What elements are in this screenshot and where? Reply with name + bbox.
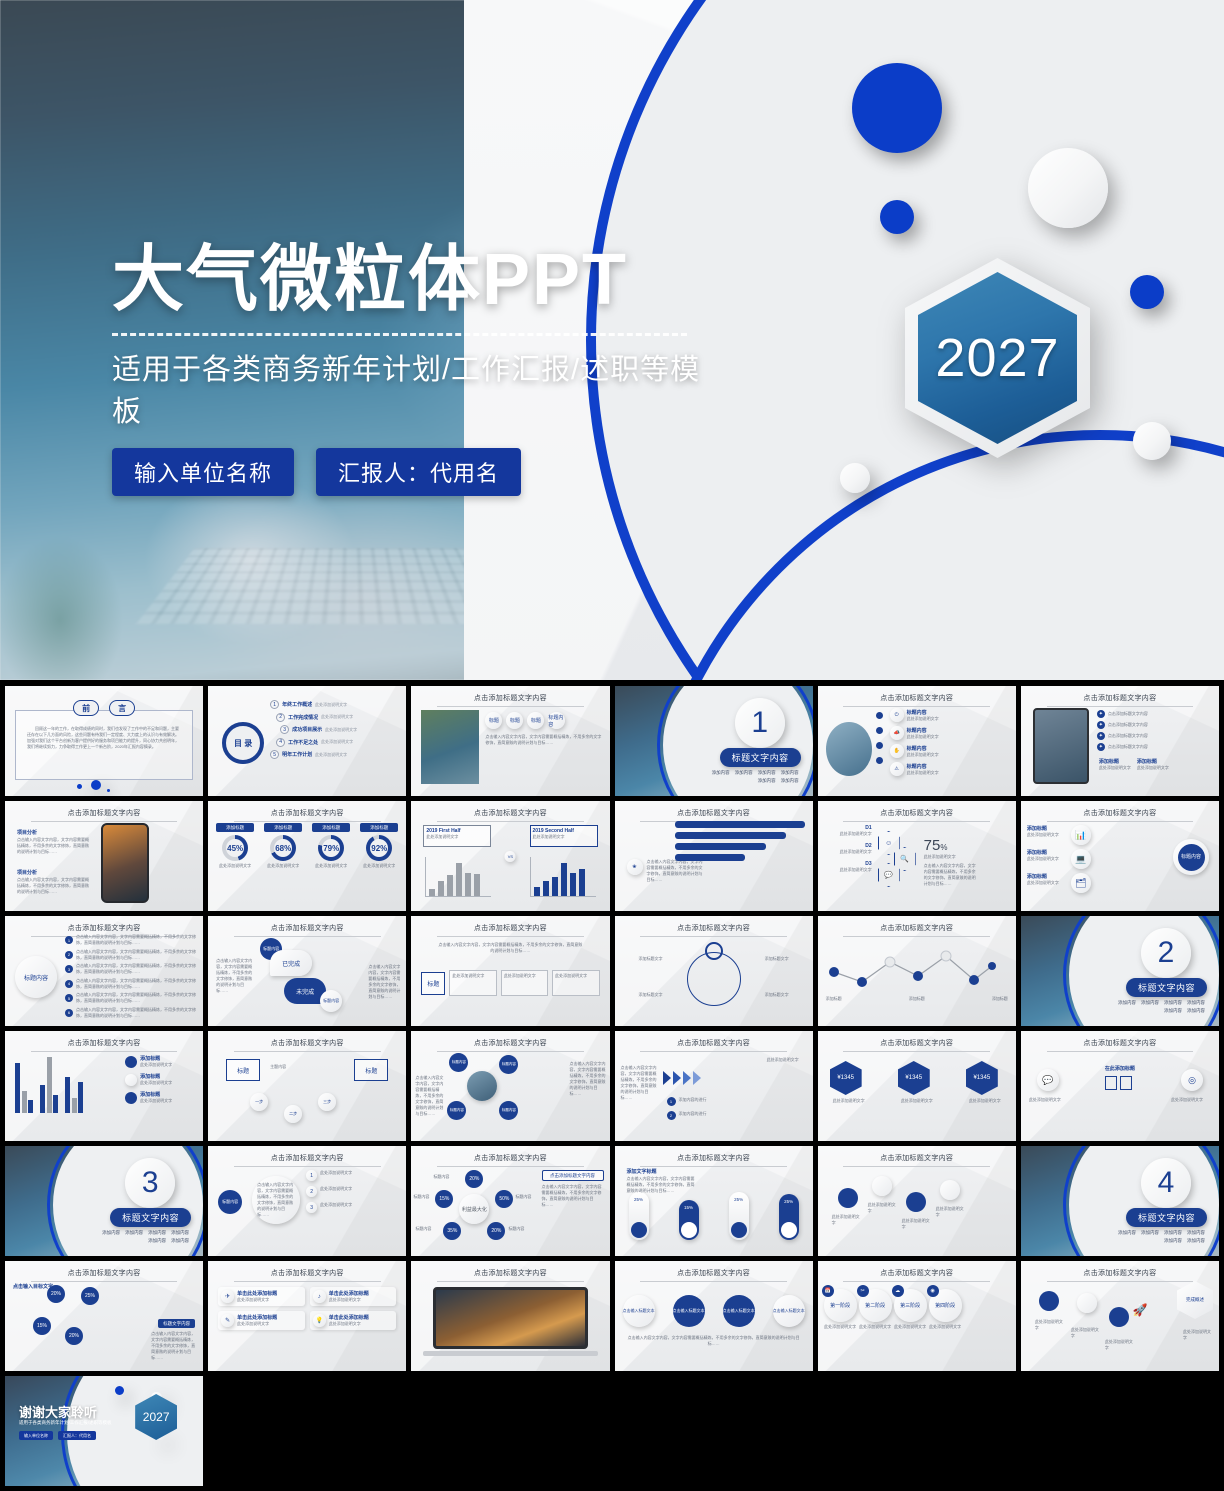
bullet: 添加内容	[171, 1238, 189, 1244]
item-text: 点击输入内容文字内容，文字内容需要概括精炼，不用多余的文字修饰，直简意赅的说明计…	[76, 992, 199, 1004]
slide-heading: 点击添加标题文字内容	[411, 693, 609, 707]
thanks-subtitle: 适用于各类商务新年计划/工作汇报/述职等模板	[19, 1420, 112, 1426]
center-label: 在此添加标题	[1105, 1065, 1135, 1072]
chevron-icon	[693, 1071, 701, 1085]
thumb-linechart[interactable]: 点击添加标题文字内容 添加标题 添加标题 添加标题	[818, 916, 1016, 1026]
decor-circle-white-small	[840, 463, 870, 493]
cover-pill-row: 输入单位名称 汇报人：代用名	[112, 448, 712, 496]
item-text: 点击添加标题文字内容	[1108, 733, 1148, 739]
box[interactable]: 此处添加说明文字	[449, 970, 496, 996]
item-title: 工作不足之处	[288, 739, 318, 746]
thumb-rocket[interactable]: 点击添加标题文字内容 🚀 完成概述 此处添加说明文字 此处添加说明文字 此处添加…	[1021, 1261, 1219, 1371]
bar	[15, 1063, 20, 1113]
hub-label-bottom-right: 标题内容	[508, 1226, 524, 1232]
thumb-hex-percent[interactable]: 点击添加标题文字内容 D1 此处添加说明文字 D2 此处添加说明文字 D3 此处…	[818, 801, 1016, 911]
stage-item[interactable]: 第三阶段 ☁ 此处添加说明文字	[894, 1289, 927, 1330]
decor-circle-blue-large	[852, 63, 942, 153]
list-item[interactable]: 1点击输入内容文字内容，文字内容需要概括精炼，不用多余的文字修饰，直简意赅的说明…	[65, 934, 199, 946]
percent-node-4[interactable]: 20%	[65, 1327, 83, 1345]
box[interactable]: 此处添加说明文字	[552, 970, 599, 996]
stage-item[interactable]: 第四阶段 ◉ 此处添加说明文字	[929, 1289, 962, 1330]
compare-left-text: 此处添加说明文字	[1029, 1097, 1069, 1103]
flow-step-3[interactable]: 三步	[318, 1093, 336, 1111]
card-title: 单击此处添加标题	[329, 1314, 369, 1321]
thumb-section-3[interactable]: 3 标题文字内容 添加内容 添加内容 添加内容 添加内容 添加内容 添加内容	[5, 1146, 203, 1256]
arrow-left-text: 点击输入内容文字内容，文字内容需要概括精炼，不用多余的文字修饰，直简意赅的说明计…	[621, 1065, 659, 1101]
stage-icon: ◉	[927, 1285, 939, 1297]
thumb-clock[interactable]: 点击添加标题文字内容 添加标题文字 添加标题文字 添加标题文字 添加标题文字	[615, 916, 813, 1026]
preface-char-1: 前	[73, 700, 99, 716]
presenter-pill[interactable]: 汇报人：代用名	[58, 1431, 96, 1440]
thumb-tablet[interactable]: 点击添加标题文字内容 ✦ 点击添加标题文字内容 ✦ 点击添加标题文字内容 ✦ 点…	[1021, 686, 1219, 796]
bullet-icon: ✦	[1097, 721, 1105, 729]
donut-chip: 添加标题	[312, 823, 350, 832]
decor-circle-white-large	[1028, 148, 1108, 228]
pill-item[interactable]: 标题	[485, 712, 502, 729]
node-1[interactable]: 标题内容	[449, 1053, 468, 1072]
list-item[interactable]: 3此处添加说明文字	[306, 1202, 402, 1213]
section-banner: 标题文字内容	[110, 1208, 191, 1227]
bullet: 添加内容	[1164, 1000, 1182, 1006]
preface-heading: 前 言	[73, 700, 135, 716]
bar	[570, 873, 576, 896]
hub-center: 利益最大化	[459, 1194, 489, 1224]
step-text: 此处添加说明文字	[828, 831, 872, 837]
hex-icon-chat: 💬	[878, 863, 900, 887]
bar	[429, 889, 435, 896]
page-title: 大气微粒体PPT	[112, 243, 712, 319]
list-item[interactable]: 5点击输入内容文字内容，文字内容需要概括精炼，不用多余的文字修饰，直简意赅的说明…	[65, 992, 199, 1004]
hub-node-right[interactable]: 50%	[495, 1190, 513, 1208]
preface-body: 回顾这一年的工作，在取得成绩的同时，我们也发现了工作中的不足和问题，主要还存在以…	[27, 726, 181, 750]
slide-heading: 点击添加标题文字内容	[615, 808, 813, 822]
capsule[interactable]: 点击输入标题文本	[773, 1295, 805, 1327]
bullet-icon: ✦	[1097, 732, 1105, 740]
thumb-bubbles[interactable]: 点击添加标题文字内容 点击输入内容文字内容，文字内容需要概括精炼，不用多余的文字…	[208, 916, 406, 1026]
thumb-thanks[interactable]: 谢谢大家聆听 适用于各类商务新年计划/工作汇报/述职等模板 输入单位名称 汇报人…	[5, 1376, 203, 1486]
bullet-icon: ✦	[1097, 710, 1105, 718]
bar	[65, 1077, 70, 1113]
toggle-item[interactable]: 25%	[779, 1194, 799, 1240]
toggle-item[interactable]: 25%	[629, 1192, 649, 1240]
legend-text: 此处添加说明文字	[140, 1080, 172, 1086]
list-item[interactable]: 2点击输入内容文字内容，文字内容需要概括精炼，不用多余的文字修饰，直简意赅的说明…	[65, 949, 199, 961]
list-item[interactable]: 5 明年工作计划 此处添加说明文字	[270, 750, 400, 759]
contents-list: 1 年终工作概述 此处添加说明文字 2 工作完成情况 此处添加说明文字 3 成功…	[270, 700, 400, 759]
thumb-boxes[interactable]: 点击添加标题文字内容 点击输入内容文字内容，文字内容需要概括精炼，不用多余的文字…	[411, 916, 609, 1026]
donut-ring: 79%	[318, 835, 344, 861]
contacts-icon: 🗂	[1071, 873, 1091, 893]
bullet: 添加内容	[1141, 1230, 1159, 1236]
hbar-group	[675, 821, 805, 861]
bullet: 添加内容	[125, 1230, 143, 1236]
stage-text: 此处添加说明文字	[929, 1324, 962, 1330]
thumb-bars-compare[interactable]: 点击添加标题文字内容 2019 First Half 此处添加说明文字 2019…	[411, 801, 609, 911]
capsule[interactable]: 点击输入标题文本	[673, 1295, 705, 1327]
stage-icon: ✂	[857, 1285, 869, 1297]
hub-node-top[interactable]: 20%	[465, 1170, 483, 1188]
list-item[interactable]: 📣 标题内容 此处添加说明文字	[890, 726, 1012, 740]
clock-label-tr: 添加标题文字	[765, 956, 803, 962]
step-text: 此处添加说明文字	[320, 1186, 402, 1197]
tablet-device	[1033, 708, 1089, 784]
donut-ring: 45%	[222, 835, 248, 861]
list-item[interactable]: ✦ 点击添加标题文字内容	[1097, 721, 1215, 729]
rail-dot	[876, 727, 883, 734]
slide-heading: 点击添加标题文字内容	[5, 808, 203, 822]
slide-heading: 点击添加标题文字内容	[411, 923, 609, 937]
node-3[interactable]: 标题内容	[447, 1101, 466, 1120]
slide-heading: 点击添加标题文字内容	[818, 693, 1016, 707]
send-icon: ✈	[221, 1290, 234, 1303]
thumb-phone[interactable]: 点击添加标题文字内容 项目分析 点击输入内容文字内容，文字内容需要概括精炼，不用…	[5, 801, 203, 911]
flow-step-2[interactable]: 二步	[284, 1105, 302, 1123]
organization-pill[interactable]: 输入单位名称	[112, 448, 294, 496]
left-caption-box: 2019 First Half 此处添加说明文字	[423, 825, 491, 847]
thumb-cards4[interactable]: 点击添加标题文字内容 ✈ 单击此处添加标题此处添加说明文字 ♪ 单击此处添加标题…	[208, 1261, 406, 1371]
bar-group	[15, 1063, 33, 1113]
step-rows: 1此处添加说明文字 2此处添加说明文字 3此处添加说明文字	[306, 1170, 402, 1213]
thumb-preface[interactable]: 前 言 回顾这一年的工作，在取得成绩的同时，我们也发现了工作中的不足和问题，主要…	[5, 686, 203, 796]
box-text: 此处添加说明文字	[555, 973, 596, 979]
toggle-value: 25%	[779, 1199, 799, 1204]
toggle-knob	[781, 1222, 797, 1238]
thumb-dots-flow[interactable]: 点击添加标题文字内容 此处添加说明文字 此处添加说明文字 此处添加说明文字 此处…	[818, 1146, 1016, 1256]
clock-ring	[687, 952, 741, 1006]
step-number: 2	[306, 1186, 317, 1197]
thumb-circle-list[interactable]: 点击添加标题文字内容 标题内容 1点击输入内容文字内容，文字内容需要概括精炼，不…	[5, 916, 203, 1026]
bubble-left-text: 点击输入内容文字内容，文字内容需要概括精炼，不用多余的文字修饰，直简意赅的说明计…	[216, 958, 252, 994]
donut-row: 添加标题 45% 此处添加说明文字 添加标题 68% 此处添加说明文字 添加标题…	[216, 823, 398, 869]
slide-heading: 点击添加标题文字内容	[818, 808, 1016, 822]
slide-heading: 点击添加标题文字内容	[615, 923, 813, 937]
thumb-hex-percents[interactable]: 点击添加标题文字内容 20% 25% 15% 20% 点击输入目标文字 标题文字…	[5, 1261, 203, 1371]
bar	[579, 869, 585, 896]
flow-note-2: 此处添加说明文字	[868, 1202, 898, 1214]
toggle-knob	[631, 1222, 647, 1238]
thumb-laptop[interactable]: 点击添加标题文字内容	[411, 1261, 609, 1371]
vs-badge: VS	[505, 851, 516, 862]
bubble-tag-2: 标题内容	[320, 990, 342, 1012]
label: 添加标题	[1027, 849, 1067, 856]
arrow-top-note: 此处添加说明文字	[767, 1057, 805, 1063]
node-4[interactable]: 标题内容	[499, 1101, 518, 1120]
caption-text: 此处添加说明文字	[1099, 765, 1131, 771]
pill-row: 标题 标题 标题 标题内容	[485, 712, 565, 729]
bar	[40, 1085, 45, 1113]
step-number: 3	[306, 1202, 317, 1213]
thumb-arrows[interactable]: 点击添加标题文字内容 点击输入内容文字内容，文字内容需要概括精炼，不用多余的文字…	[615, 1031, 813, 1141]
presenter-pill[interactable]: 汇报人：代用名	[316, 448, 521, 496]
card-title: 单击此处添加标题	[237, 1314, 277, 1321]
item-sub: 此处添加说明文字	[315, 702, 347, 708]
item-sub: 此处添加说明文字	[907, 716, 939, 722]
card[interactable]: 💡 单击此处添加标题此处添加说明文字	[310, 1311, 397, 1330]
bar	[72, 1098, 77, 1113]
list-item[interactable]: 4 工作不足之处 此处添加说明文字	[276, 738, 400, 747]
donut-ring: 92%	[366, 835, 392, 861]
arrow-step-1-text: 添加内容的进行	[679, 1097, 727, 1103]
legend-title: 添加标题	[140, 1055, 172, 1062]
laptop-base	[423, 1351, 597, 1356]
slide-heading: 点击添加标题文字内容	[411, 808, 609, 822]
bar-group	[65, 1077, 83, 1113]
legend-title: 添加标题	[140, 1073, 172, 1080]
thumb-hub[interactable]: 点击添加标题文字内容 利益最大化 20% 50% 20% 35% 15% 标题内…	[411, 1146, 609, 1256]
list-item[interactable]: ⏻ 标题内容 此处添加说明文字	[890, 708, 1012, 722]
section-number: 2	[1141, 928, 1191, 978]
toggle-row: 25% 15% 25% 25%	[629, 1192, 799, 1240]
toggle-knob	[681, 1222, 697, 1238]
thumb-toggles[interactable]: 点击添加标题文字内容 添加文字标题 点击输入内容文字内容，文字内容需要概括精炼，…	[615, 1146, 813, 1256]
stage-text: 此处添加说明文字	[859, 1324, 892, 1330]
rocket-node-2	[1077, 1293, 1097, 1313]
step-labels: D1 此处添加说明文字 D2 此处添加说明文字 D3 此处添加说明文字	[828, 825, 872, 873]
toggle-value: 15%	[679, 1205, 699, 1210]
hub-label-top: 标题内容	[433, 1174, 449, 1180]
preface-dot-3	[107, 789, 110, 792]
bullet: 添加内容	[1118, 1230, 1136, 1236]
item-text: 点击输入内容文字内容，文字内容需要概括精炼，不用多余的文字修饰，直简意赅的说明计…	[76, 963, 199, 975]
item-sub: 此处添加说明文字	[907, 734, 939, 740]
bubble-right-text: 点击输入内容文字内容，文字内容需要概括精炼，不用多余的文字修饰，直简意赅的说明计…	[368, 964, 402, 1000]
slide-heading: 点击添加标题文字内容	[818, 1268, 1016, 1282]
capsule-row: 点击输入标题文本 点击输入标题文本 点击输入标题文本 点击输入标题文本	[623, 1295, 805, 1327]
toggle-knob	[731, 1222, 747, 1238]
thumb-icon-list[interactable]: 点击添加标题文字内容 ⏻ 标题内容 此处添加说明文字 📣 标题内容 此处添加说明…	[818, 686, 1016, 796]
list-item[interactable]: ✋ 标题内容 此处添加说明文字	[890, 744, 1012, 758]
toggle-item[interactable]: 15%	[679, 1200, 699, 1240]
tablet-items: ✦ 点击添加标题文字内容 ✦ 点击添加标题文字内容 ✦ 点击添加标题文字内容 ✦…	[1097, 710, 1215, 751]
bar	[543, 881, 549, 896]
thumb-section-1[interactable]: 1 标题文字内容 添加内容 添加内容 添加内容 添加内容 添加内容 添加内容	[615, 686, 813, 796]
center-label: 标题内容	[1178, 844, 1205, 871]
bullet: 添加内容	[712, 770, 730, 776]
thumb-node-map[interactable]: 点击添加标题文字内容 标题内容 标题内容 标题内容 标题内容 点击输入内容文字内…	[411, 1031, 609, 1141]
thumb-flow2[interactable]: 点击添加标题文字内容 标题 主题内容 标题 一步 二步 三步	[208, 1031, 406, 1141]
right-caption-box: 2019 Second Half 此处添加说明文字	[530, 825, 598, 847]
thumb-stages[interactable]: 点击添加标题文字内容 第一阶段 📅 此处添加说明文字 第二阶段 ✂ 此处添加说明…	[818, 1261, 1016, 1371]
thumb-section-2[interactable]: 2 标题文字内容 添加内容 添加内容 添加内容 添加内容 添加内容 添加内容	[1021, 916, 1219, 1026]
hub-node-bottom-right[interactable]: 20%	[487, 1222, 505, 1240]
preface-dot-2	[77, 784, 82, 789]
bubble-done: 已完成	[270, 950, 312, 976]
chevron-group	[663, 1071, 701, 1085]
flow-dot-3	[906, 1192, 926, 1212]
donut-value: 79%	[322, 839, 340, 857]
bar-chart	[15, 1057, 101, 1113]
slide-heading: 点击添加标题文字内容	[1021, 693, 1219, 707]
list-item[interactable]: 3 成功项目展示 此处添加说明文字	[280, 725, 400, 734]
thumb-hex-trio[interactable]: 点击添加标题文字内容 ¥1345 此处添加说明文字 ¥1345 此处添加说明文字…	[818, 1031, 1016, 1141]
sub: 此处添加说明文字	[1027, 832, 1067, 838]
bullet: 添加内容	[148, 1238, 166, 1244]
item-title: 成功项目展示	[292, 726, 322, 733]
thumb-contents[interactable]: 目 录 1 年终工作概述 此处添加说明文字 2 工作完成情况 此处添加说明文字 …	[208, 686, 406, 796]
list-item[interactable]: 3点击输入内容文字内容，文字内容需要概括精炼，不用多余的文字修饰，直简意赅的说明…	[65, 963, 199, 975]
hex-item: ¥1345 此处添加说明文字	[898, 1061, 936, 1104]
capsule[interactable]: 点击输入标题文本	[723, 1295, 755, 1327]
thumb-hbars[interactable]: 点击添加标题文字内容 ❀ 点击输入内容文字内容，文字内容需要概括精炼，不用多余的…	[615, 801, 813, 911]
card-title: 单击此处添加标题	[237, 1290, 277, 1297]
item-number: 3	[280, 725, 289, 734]
thumb-barchart-legend[interactable]: 点击添加标题文字内容 添加标题此处添加说明文字	[5, 1031, 203, 1141]
bar	[53, 1095, 58, 1113]
steps-card-text: 点击输入内容文字内容，文字内容需要概括精炼，不用多余的文字修饰，直简意赅的说明计…	[257, 1182, 295, 1218]
list-item[interactable]: 2此处添加说明文字	[306, 1186, 402, 1197]
arrow-step-1: 1	[667, 1097, 676, 1106]
stage-item[interactable]: 第一阶段 📅 此处添加说明文字	[824, 1289, 857, 1330]
converge-center: 标题内容	[1173, 839, 1209, 875]
node-text-right: 点击输入内容文字内容，文字内容需要概括精炼，不用多余的文字修饰，直简意赅的说明计…	[570, 1061, 606, 1097]
legend-text: 此处添加说明文字	[140, 1062, 172, 1068]
legend-marker	[125, 1092, 137, 1104]
bullet: 添加内容	[102, 1230, 120, 1236]
bullet: 添加内容	[781, 770, 799, 776]
step-text: 此处添加说明文字	[320, 1170, 402, 1181]
slide-heading: 点击添加标题文字内容	[411, 1038, 609, 1052]
legend-row: 添加标题此处添加说明文字	[125, 1091, 197, 1104]
card[interactable]: ♪ 单击此处添加标题此处添加说明文字	[310, 1287, 397, 1306]
card-text: 此处添加说明文字	[329, 1297, 369, 1303]
hex-caption: 此处添加说明文字	[966, 1098, 1004, 1104]
item-number: 5	[270, 750, 279, 759]
rail-dot	[876, 712, 883, 719]
hbar	[675, 854, 745, 861]
list-item[interactable]: ✦ 点击添加标题文字内容	[1097, 710, 1215, 718]
bullet: 添加内容	[148, 1230, 166, 1236]
hub-side-title: 点击添加标题文字内容	[542, 1170, 604, 1181]
donut-caption: 此处添加说明文字	[312, 863, 350, 869]
capsule[interactable]: 点击输入标题文本	[623, 1295, 655, 1327]
percent-unit: %	[940, 843, 947, 852]
donut-value: 45%	[226, 839, 244, 857]
percent-value: 75	[924, 837, 941, 854]
stage-icon: 📅	[822, 1285, 834, 1297]
hub-label-left: 标题内容	[413, 1194, 429, 1200]
hub-node-bottom-left[interactable]: 35%	[443, 1222, 461, 1240]
rail-dot	[876, 742, 883, 749]
slide-heading: 点击添加标题文字内容	[5, 1038, 203, 1052]
list-item[interactable]: 2 工作完成情况 此处添加说明文字	[276, 713, 400, 722]
step-text: 此处添加说明文字	[320, 1202, 402, 1213]
item-title: 标题内容	[907, 745, 939, 752]
bar-legend: 添加标题此处添加说明文字 添加标题此处添加说明文字 添加标题此处添加说明文字	[125, 1055, 197, 1104]
hub-node-left[interactable]: 15%	[435, 1190, 453, 1208]
box[interactable]: 此处添加说明文字	[501, 970, 548, 996]
item-text: 点击输入内容文字内容，文字内容需要概括精炼，不用多余的文字修饰，直简意赅的说明计…	[76, 934, 199, 946]
list-item[interactable]: ✦ 点击添加标题文字内容	[1097, 732, 1215, 740]
bullet: 添加内容	[1164, 1008, 1182, 1014]
warning-icon: ⚠	[890, 762, 904, 776]
sub: 此处添加说明文字	[1027, 880, 1067, 886]
phone-text-2: 点击输入内容文字内容，文字内容需要概括精炼，不用多余的文字修饰，直简意赅的说明计…	[17, 877, 91, 895]
pencil-icon: ✎	[221, 1314, 234, 1327]
flow-note-3: 此处添加说明文字	[902, 1218, 932, 1230]
sub: 此处添加说明文字	[1027, 856, 1067, 862]
donut-chip: 添加标题	[264, 823, 302, 832]
clock-label-tl: 添加标题文字	[625, 956, 663, 962]
thumb-capsules[interactable]: 点击添加标题文字内容 点击输入标题文本 点击输入标题文本 点击输入标题文本 点击…	[615, 1261, 813, 1371]
pill-item[interactable]: 标题	[506, 712, 523, 729]
card-title: 单击此处添加标题	[329, 1290, 369, 1297]
thumb-compare-icons[interactable]: 点击添加标题文字内容 💬 ◎ 在此添加标题 此处添加说明文字 此处添加说明文字	[1021, 1031, 1219, 1141]
compare-right-text: 此处添加说明文字	[1171, 1097, 1211, 1103]
legend-row: 添加标题此处添加说明文字	[125, 1055, 197, 1068]
pill-item[interactable]: 标题内容	[548, 712, 565, 729]
donut-item: 添加标题 79% 此处添加说明文字	[312, 823, 350, 869]
caption-text: 此处添加说明文字	[1137, 765, 1169, 771]
card[interactable]: ✎ 单击此处添加标题此处添加说明文字	[218, 1311, 305, 1330]
steps-card: 点击输入内容文字内容，文字内容需要概括精炼，不用多余的文字修饰，直简意赅的说明计…	[252, 1176, 300, 1224]
bar	[474, 874, 480, 896]
percent-node-2[interactable]: 25%	[81, 1287, 99, 1305]
flow-dot-2	[872, 1176, 892, 1196]
slide-heading: 点击添加标题文字内容	[208, 923, 406, 937]
node-2[interactable]: 标题内容	[499, 1055, 518, 1074]
organization-pill[interactable]: 输入单位名称	[19, 1431, 53, 1440]
list-item[interactable]: 6点击输入内容文字内容，文字内容需要概括精炼，不用多余的文字修饰，直简意赅的说明…	[65, 1007, 199, 1019]
thumb-icon-converge[interactable]: 点击添加标题文字内容 添加标题 此处添加说明文字 添加标题 此处添加说明文字 添…	[1021, 801, 1219, 911]
bar	[47, 1057, 52, 1113]
hex-icon-search: 🔍	[894, 847, 916, 871]
bar	[438, 881, 444, 896]
card[interactable]: ✈ 单击此处添加标题此处添加说明文字	[218, 1287, 305, 1306]
item-number: 4	[276, 738, 285, 747]
thumb-section-4[interactable]: 4 标题文字内容 添加内容 添加内容 添加内容 添加内容 添加内容 添加内容	[1021, 1146, 1219, 1256]
item-title: 标题内容	[907, 727, 939, 734]
flow-step-1[interactable]: 一步	[250, 1093, 268, 1111]
card-text: 此处添加说明文字	[237, 1297, 277, 1303]
stage-text: 此处添加说明文字	[894, 1324, 927, 1330]
laptop-device	[433, 1287, 587, 1349]
item-title: 工作完成情况	[288, 714, 318, 721]
item-number: 1	[65, 936, 73, 944]
thanks-dot-1	[115, 1386, 124, 1395]
thumb-photo-pills[interactable]: 点击添加标题文字内容 标题 标题 标题 标题内容 点击输入内容文字内容，文字内容…	[411, 686, 609, 796]
list-item[interactable]: ⚠ 标题内容 此处添加说明文字	[890, 762, 1012, 776]
stage-item[interactable]: 第二阶段 ✂ 此处添加说明文字	[859, 1289, 892, 1330]
title-divider	[112, 333, 687, 336]
percent-node-3[interactable]: 15%	[33, 1317, 51, 1335]
pill-item[interactable]: 标题	[527, 712, 544, 729]
thumb-donuts[interactable]: 点击添加标题文字内容 添加标题 45% 此处添加说明文字 添加标题 68% 此处…	[208, 801, 406, 911]
donut-value: 68%	[274, 839, 292, 857]
list-item[interactable]: 1此处添加说明文字	[306, 1170, 402, 1181]
list-item[interactable]: 4点击输入内容文字内容，文字内容需要概括精炼，不用多余的文字修饰，直简意赅的说明…	[65, 978, 199, 990]
list-item[interactable]: 1 年终工作概述 此处添加说明文字	[270, 700, 400, 709]
card-text: 此处添加说明文字	[237, 1321, 277, 1327]
item-title: 标题内容	[907, 709, 939, 716]
thumb-arrow-steps[interactable]: 点击添加标题文字内容 标题内容 点击输入内容文字内容，文字内容需要概括精炼，不用…	[208, 1146, 406, 1256]
compare-bar	[1120, 1076, 1132, 1090]
percents-center: 标题文字内容	[158, 1319, 195, 1328]
list-item[interactable]: ✦ 点击添加标题文字内容	[1097, 743, 1215, 751]
line-legend: 添加标题 添加标题 添加标题	[826, 996, 1008, 1002]
arrow-step-2: 2	[667, 1111, 676, 1120]
cover-slide: 2027 大气微粒体PPT 适用于各类商务新年计划/工作汇报/述职等模板 输入单…	[0, 0, 1224, 680]
leaf-icon: ❀	[627, 859, 643, 875]
bar	[456, 863, 462, 896]
donut-ring: 68%	[270, 835, 296, 861]
slide-heading: 点击添加标题文字内容	[1021, 808, 1219, 822]
item-number: 5	[65, 994, 73, 1002]
compare-bars	[1105, 1076, 1135, 1090]
toggle-item[interactable]: 25%	[729, 1192, 749, 1240]
section-bullets: 添加内容 添加内容 添加内容 添加内容 添加内容 添加内容	[695, 770, 799, 784]
bullet: 添加内容	[1187, 1000, 1205, 1006]
phone-label-1: 项目分析	[17, 829, 37, 836]
